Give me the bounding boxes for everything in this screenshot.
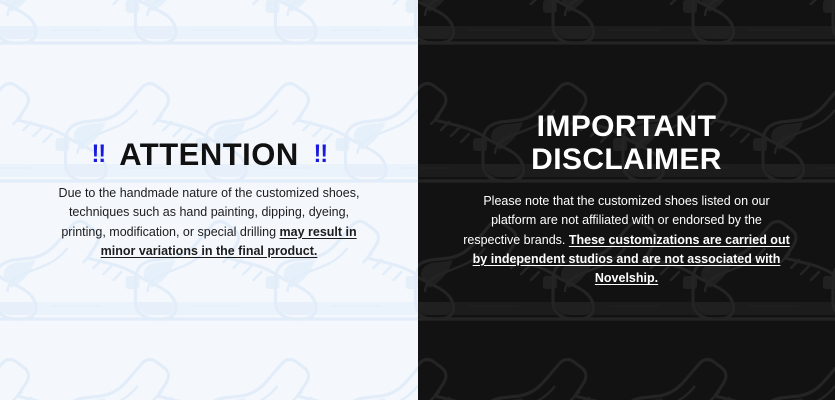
disclaimer-panel: IMPORTANT DISCLAIMER Please note that th… xyxy=(418,0,835,400)
attention-heading: !! ATTENTION !! xyxy=(30,139,388,170)
dual-disclaimer-banner: !! ATTENTION !! Due to the handmade natu… xyxy=(0,0,835,400)
attention-panel: !! ATTENTION !! Due to the handmade natu… xyxy=(0,0,418,400)
attention-heading-word: ATTENTION xyxy=(119,138,299,170)
disclaimer-heading: IMPORTANT DISCLAIMER xyxy=(440,111,813,176)
attention-body: Due to the handmade nature of the custom… xyxy=(54,184,364,262)
disclaimer-heading-line-2: DISCLAIMER xyxy=(440,144,813,176)
attention-content: !! ATTENTION !! Due to the handmade natu… xyxy=(0,139,418,262)
double-exclamation-right-icon: !! xyxy=(313,142,326,167)
double-exclamation-left-icon: !! xyxy=(91,142,104,167)
disclaimer-heading-line-1: IMPORTANT xyxy=(440,111,813,143)
disclaimer-content: IMPORTANT DISCLAIMER Please note that th… xyxy=(418,111,835,289)
disclaimer-body: Please note that the customized shoes li… xyxy=(462,192,792,289)
